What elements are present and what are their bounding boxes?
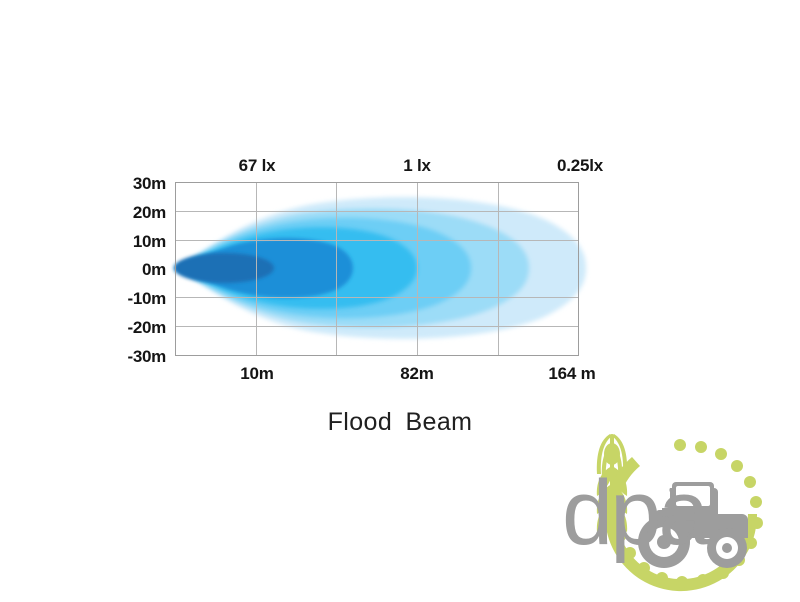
y-tick-label-neg10m: -10m	[104, 290, 166, 307]
y-tick-label-30m: 30m	[104, 175, 166, 192]
y-tick-label-10m: 10m	[104, 233, 166, 250]
dpa-logo: dpa	[560, 432, 790, 597]
top-tick-label-1lx: 1 lx	[403, 157, 431, 174]
beam-lobes	[174, 197, 586, 339]
bottom-tick-label-10m: 10m	[240, 365, 273, 382]
y-tick-label-0m: 0m	[104, 261, 166, 278]
beam-hotspot	[174, 253, 274, 283]
dpa-wordmark: dpa	[562, 462, 710, 564]
top-tick-label-025lx: 0.25lx	[557, 157, 603, 174]
bottom-tick-label-164m: 164 m	[548, 365, 595, 382]
y-tick-label-20m: 20m	[104, 204, 166, 221]
top-tick-label-67lx: 67 lx	[239, 157, 276, 174]
bottom-tick-label-82m: 82m	[400, 365, 433, 382]
dpa-logo-graphic: dpa	[560, 432, 790, 597]
y-tick-label-neg20m: -20m	[104, 319, 166, 336]
y-tick-label-neg30m: -30m	[104, 348, 166, 365]
